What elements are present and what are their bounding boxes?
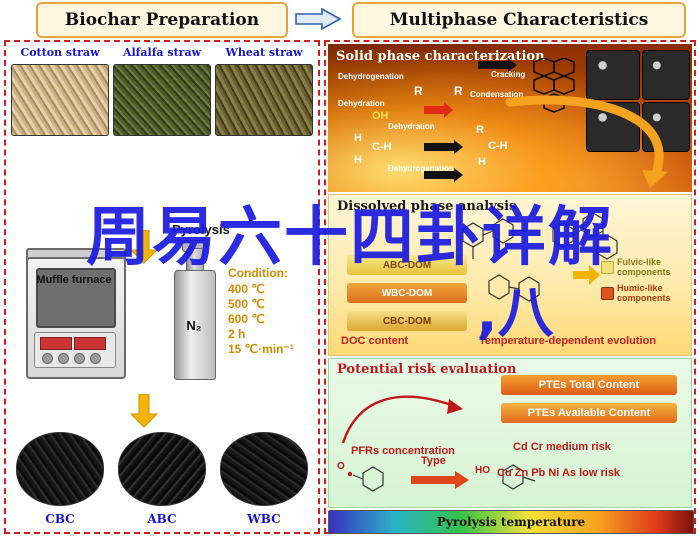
molecule-label-o: O <box>337 461 345 472</box>
doc-content-label: DOC content <box>341 335 408 347</box>
header-left-title: Biochar Preparation <box>36 2 288 38</box>
multiphase-characteristics-panel: Solid phase characterization Dehydrogena… <box>324 40 696 534</box>
dissolved-phase-section: Dissolved phase analysis <box>328 194 692 356</box>
reaction-arrow-icon-2 <box>424 140 464 159</box>
molecule-o-radical-icon <box>343 463 407 510</box>
photo-wbc-biochar <box>220 432 308 506</box>
photo-abc-biochar <box>118 432 206 506</box>
straw-label-cotton: Cotton straw <box>10 46 110 59</box>
process-dehydration: Dehydration <box>338 99 385 108</box>
formula-R-1: R <box>414 84 423 98</box>
risk-evaluation-section: Potential risk evaluation PFRs concentra… <box>328 358 692 508</box>
conditions-title: Condition: <box>228 266 288 280</box>
gas-cylinder-label: N₂ <box>174 318 214 333</box>
legend-swatch-fulvic <box>601 261 614 274</box>
bar-ptes-available: PTEs Available Content <box>501 403 677 423</box>
photo-alfalfa-straw <box>113 64 211 136</box>
condition-item-1: 500 ℃ <box>228 297 318 312</box>
down-arrow-icon-to-furnace <box>130 230 158 264</box>
legend-swatch-humic <box>601 287 614 300</box>
reaction-arrow-icon-3 <box>424 168 464 187</box>
type-arrow-icon <box>411 471 471 494</box>
formula-H-3: H <box>478 156 486 168</box>
figure-header: Biochar Preparation Multiphase Character… <box>0 0 700 38</box>
photo-cotton-straw <box>11 64 109 136</box>
risk-text-cu-zn: Cu Zn Pb Ni As low risk <box>497 467 620 479</box>
condition-item-3: 2 h <box>228 327 318 342</box>
formula-H-2: H <box>354 154 362 166</box>
formula-CH-1: C-H <box>372 141 392 153</box>
legend-arrow-icon <box>573 255 601 306</box>
condition-item-2: 600 ℃ <box>228 312 318 327</box>
bar-ptes-total: PTEs Total Content <box>501 375 677 395</box>
reaction-arrow-icon-1 <box>424 102 454 123</box>
biochar-label-cbc: CBC <box>10 512 110 526</box>
straw-label-wheat: Wheat straw <box>214 46 314 59</box>
figure-body: Cotton straw Alfalfa straw Wheat straw P… <box>4 40 696 534</box>
straw-label-alfalfa: Alfalfa straw <box>112 46 212 59</box>
straw-label-row: Cotton straw Alfalfa straw Wheat straw <box>6 46 318 62</box>
furnace-knob-1[interactable] <box>42 353 53 364</box>
risk-text-cd-cr: Cd Cr medium risk <box>513 441 611 453</box>
molecule-label-ho: HO <box>475 465 490 476</box>
photo-cbc-biochar <box>16 432 104 506</box>
condition-item-0: 400 ℃ <box>228 282 318 297</box>
biochar-label-abc: ABC <box>112 512 212 526</box>
cracking-arrow-icon <box>478 58 518 77</box>
process-dehydrogenation-1: Dehydrogenation <box>338 72 404 81</box>
pyrolysis-temperature-label: Pyrolysis temperature <box>437 515 585 529</box>
process-dehydration-2: Dehydration <box>388 122 435 131</box>
temperature-evolution-label: Temperature-dependent evolution <box>479 335 656 347</box>
figure-root: Biochar Preparation Multiphase Character… <box>0 0 700 537</box>
photo-wheat-straw <box>215 64 313 136</box>
formula-R-2: R <box>454 84 463 98</box>
furnace-label: Muffle furnace <box>32 274 116 287</box>
legend-label-fulvic: Fulvic-like components <box>617 257 693 277</box>
risk-title: Potential risk evaluation <box>337 362 516 377</box>
pyrolysis-label: Pyrolysis <box>172 222 230 237</box>
molecule-sketch-3 <box>479 269 553 314</box>
right-arrow-icon <box>294 8 342 30</box>
formula-OH: OH <box>372 110 389 122</box>
down-arrow-icon-to-biochar <box>130 394 158 428</box>
furnace-knob-4[interactable] <box>90 353 101 364</box>
legend-label-humic: Humic-like components <box>617 283 693 303</box>
curved-orange-arrow-icon <box>504 92 692 195</box>
condition-item-4: 15 ℃·min⁻¹ <box>228 342 318 357</box>
dissolved-phase-title: Dissolved phase analysis <box>337 199 516 214</box>
band-abc-dom: ABC-DOM <box>347 255 467 275</box>
conditions-list: 400 ℃ 500 ℃ 600 ℃ 2 h 15 ℃·min⁻¹ <box>228 282 318 357</box>
solid-phase-section: Solid phase characterization Dehydrogena… <box>328 44 692 192</box>
formula-R-3: R <box>476 124 484 136</box>
biochar-label-wbc: WBC <box>214 512 314 526</box>
biochar-preparation-panel: Cotton straw Alfalfa straw Wheat straw P… <box>4 40 320 534</box>
header-right-title: Multiphase Characteristics <box>352 2 686 38</box>
type-label: Type <box>421 455 446 467</box>
band-wbc-dom: WBC-DOM <box>347 283 467 303</box>
pyrolysis-temperature-bar: Pyrolysis temperature <box>328 510 694 534</box>
furnace-knob-3[interactable] <box>74 353 85 364</box>
furnace-display-1 <box>40 337 72 350</box>
furnace-display-2 <box>74 337 106 350</box>
furnace-knob-2[interactable] <box>58 353 69 364</box>
formula-H-1: H <box>354 132 362 144</box>
band-cbc-dom: CBC-DOM <box>347 311 467 331</box>
